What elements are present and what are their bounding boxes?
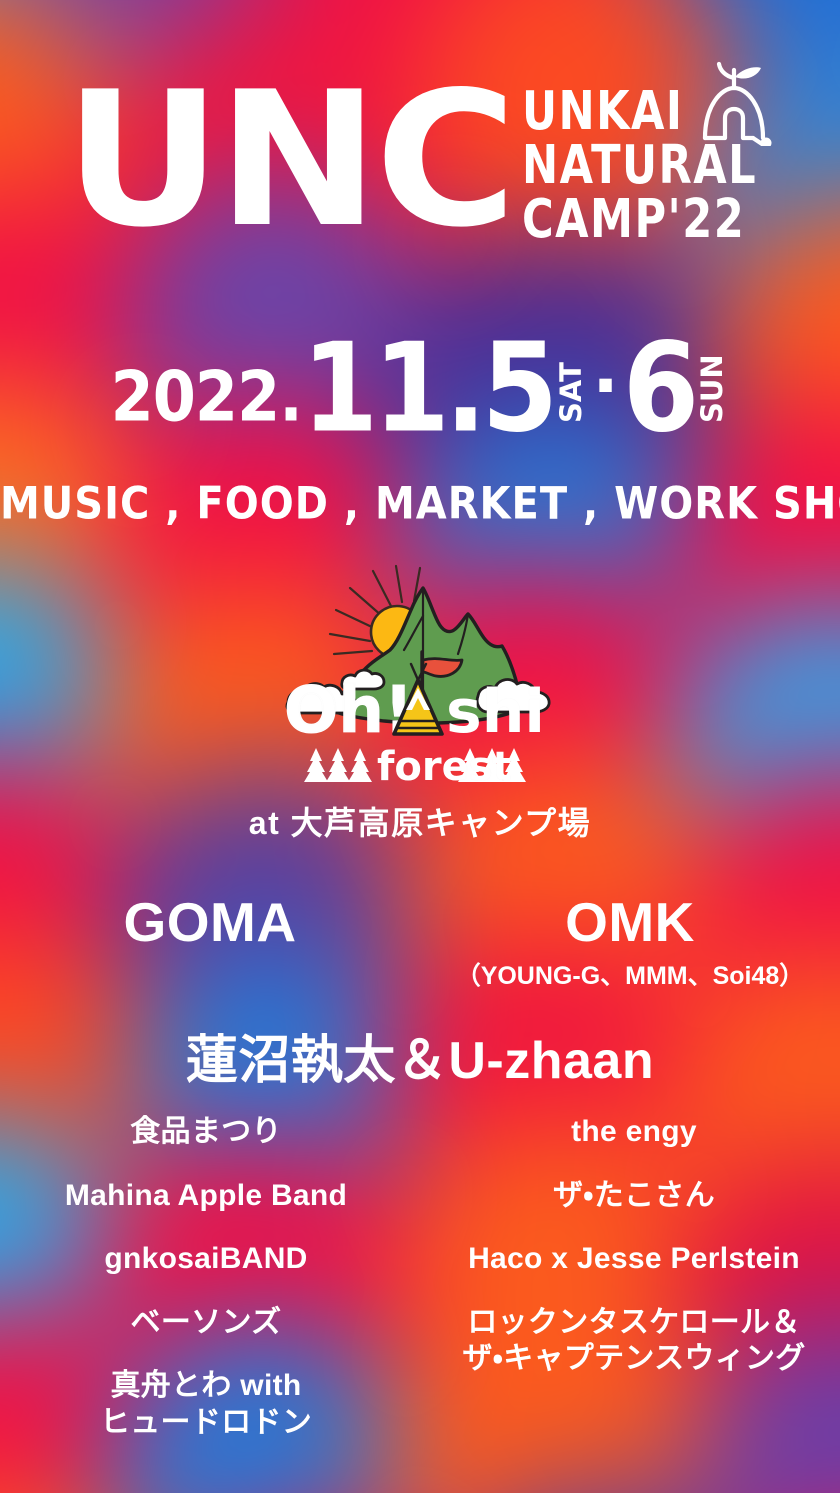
lineup-item: ザ・たこさん [553,1178,715,1215]
lineup-item: the engy [571,1114,697,1151]
festival-fullname: UNKAI NATURAL CAMP'22 [522,88,767,241]
ohashi-forest-logo-graphic: Oh! shi [270,556,570,786]
headliner-omk: OMK （YOUNG-G、MMM、Soi48） [420,894,840,992]
festival-poster: UNC UNKAI NATURAL CAMP'22 [0,0,840,1493]
headliner-members: （YOUNG-G、MMM、Soi48） [420,956,840,992]
lineup-column-right: the engy ザ・たこさん Haco x Jesse Perlstein ロ… [420,1114,840,1458]
lineup-column-left: 食品まつり Mahina Apple Band gnkosaiBAND ベーソン… [0,1114,420,1458]
lineup-item: gnkosaiBAND [104,1241,307,1278]
event-date: 2022. 11.5 SAT · 6 SUN [0,340,840,437]
date-day-1: 11.5 [302,334,553,442]
lineup-list: 食品まつり Mahina Apple Band gnkosaiBAND ベーソン… [0,1114,840,1458]
logo-subtitle: forest [377,744,512,786]
headliner-row-2: 蓮沼執太＆U-zhaan [0,1018,840,1093]
headliner-name: GOMA [0,894,420,952]
lineup-item: ベーソンズ [131,1305,282,1342]
headliner-name: OMK [420,894,840,952]
logo-name-part2: shi [446,677,545,747]
lineup-item: Mahina Apple Band [65,1178,347,1215]
date-year: 2022. [111,362,302,431]
poster-content: UNC UNKAI NATURAL CAMP'22 [0,0,840,1493]
event-categories: MUSIC , FOOD , MARKET , WORK SHOP [0,478,840,530]
date-dow-2: SUN [698,361,727,423]
festival-name-line-3: CAMP'22 [522,192,757,245]
venue-label: at 大芦高原キャンプ場 [0,798,840,844]
lineup-item: ロックンタスケロール＆ ザ・キャプテンスウィング [462,1305,805,1378]
headliner-row-1: GOMA OMK （YOUNG-G、MMM、Soi48） [0,894,840,992]
lineup-item: Haco x Jesse Perlstein [468,1241,800,1278]
lineup-item: 食品まつり [130,1114,282,1151]
poster-header: UNC UNKAI NATURAL CAMP'22 [0,66,840,245]
date-day-2: 6 [623,334,695,442]
ohashi-forest-logo: Oh! shi [0,556,840,786]
tent-sprout-icon [695,60,773,146]
date-separator: · [592,351,619,421]
headliner-goma: GOMA [0,894,420,992]
logo-name-part1: Oh! [284,674,413,748]
date-dow-1: SAT [557,361,586,423]
festival-acronym: UNC [64,74,512,245]
lineup-item: 真舟とわ with ヒュードロドン [100,1368,312,1441]
